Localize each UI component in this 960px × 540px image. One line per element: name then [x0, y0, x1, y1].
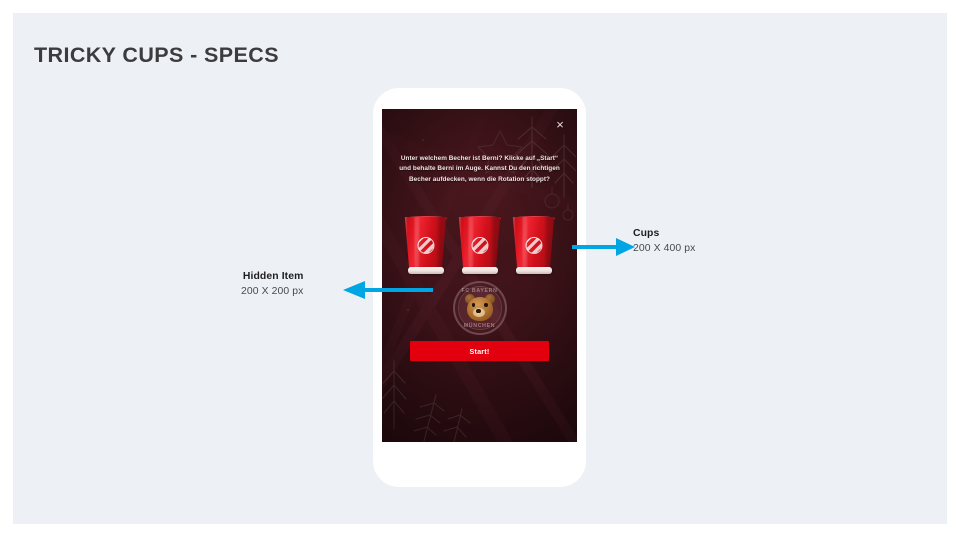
start-button[interactable]: Start! [410, 341, 549, 361]
annotation-cups-title: Cups [633, 228, 695, 239]
bear-nose [476, 309, 481, 313]
cups-group [382, 217, 577, 274]
arrow-to-hidden-item [343, 279, 433, 301]
phone-screen: × Unter welchem Becher ist Berni? Klicke… [382, 109, 577, 442]
cup-1[interactable] [402, 217, 450, 274]
page-title: TRICKY CUPS - SPECS [34, 43, 279, 68]
annotation-hidden-item-title: Hidden Item [241, 271, 303, 282]
crest-text-bottom: MÜNCHEN [453, 323, 507, 329]
cup-base-rim [408, 267, 444, 274]
slide-canvas: TRICKY CUPS - SPECS [13, 13, 947, 524]
cup-base-rim [516, 267, 552, 274]
fc-bayern-logo-icon [417, 237, 434, 254]
bear-eye-left [472, 303, 476, 307]
cup-3[interactable] [510, 217, 558, 274]
cup-base-rim [462, 267, 498, 274]
sparkle-icon [407, 309, 409, 311]
hidden-item-berni: FC BAYERN MÜNCHEN [453, 281, 507, 335]
annotation-cups: Cups 200 X 400 px [633, 228, 695, 254]
annotation-hidden-item-spec: 200 X 200 px [241, 286, 303, 297]
annotation-cups-spec: 200 X 400 px [633, 243, 695, 254]
fc-bayern-logo-icon [525, 237, 542, 254]
instructions-text: Unter welchem Becher ist Berni? Klicke a… [394, 154, 565, 185]
bear-mascot-icon [466, 294, 494, 322]
close-icon[interactable]: × [551, 116, 569, 134]
annotation-hidden-item: Hidden Item 200 X 200 px [241, 271, 303, 297]
fc-bayern-logo-icon [471, 237, 488, 254]
arrow-to-cups [572, 236, 635, 258]
cup-2[interactable] [456, 217, 504, 274]
sparkle-icon [422, 139, 424, 141]
